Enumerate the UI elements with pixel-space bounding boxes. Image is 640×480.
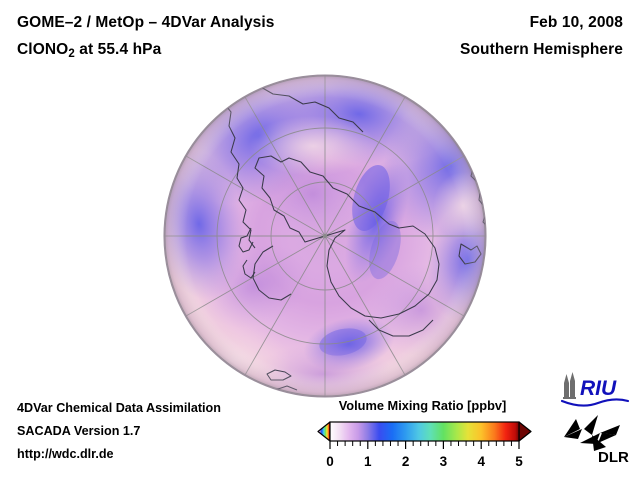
orthographic-globe	[163, 74, 487, 398]
riu-logo: RIU	[556, 371, 632, 409]
dlr-mark-icon	[564, 415, 620, 451]
svg-text:1: 1	[364, 454, 372, 469]
page-title-species: ClONO2 at 55.4 hPa	[17, 41, 161, 60]
colorbar-gradient-bar	[330, 422, 519, 441]
credit-line-version: SACADA Version 1.7	[17, 424, 140, 438]
south-pole-marker	[323, 234, 327, 238]
species-level: at 55.4 hPa	[75, 41, 162, 58]
colorbar: Volume Mixing Ratio [ppbv] 012345	[300, 398, 545, 473]
svg-text:0: 0	[326, 454, 334, 469]
dlr-logo: DLR	[562, 413, 634, 465]
svg-text:5: 5	[515, 454, 523, 469]
colorbar-tick-labels: 012345	[326, 454, 523, 469]
date-label: Feb 10, 2008	[530, 14, 623, 32]
colorbar-extend-high	[519, 422, 531, 441]
riu-wave-icon	[562, 399, 628, 405]
svg-text:3: 3	[440, 454, 448, 469]
credit-line-url[interactable]: http://wdc.dlr.de	[17, 447, 114, 461]
svg-text:2: 2	[402, 454, 410, 469]
globe-map-figure	[163, 74, 487, 398]
riu-wordmark: RIU	[580, 377, 617, 400]
svg-text:4: 4	[477, 454, 485, 469]
species-name: ClONO	[17, 41, 68, 58]
dlr-wordmark: DLR	[598, 449, 629, 465]
page-title-instrument: GOME–2 / MetOp – 4DVar Analysis	[17, 14, 275, 32]
credit-line-assimilation: 4DVar Chemical Data Assimilation	[17, 401, 221, 415]
colorbar-scale: 012345	[300, 417, 545, 473]
colorbar-ticks	[330, 441, 519, 449]
colorbar-title: Volume Mixing Ratio [ppbv]	[300, 398, 545, 413]
region-label: Southern Hemisphere	[460, 41, 623, 59]
colorbar-extend-low	[318, 422, 330, 441]
cathedral-towers-icon	[563, 372, 576, 399]
